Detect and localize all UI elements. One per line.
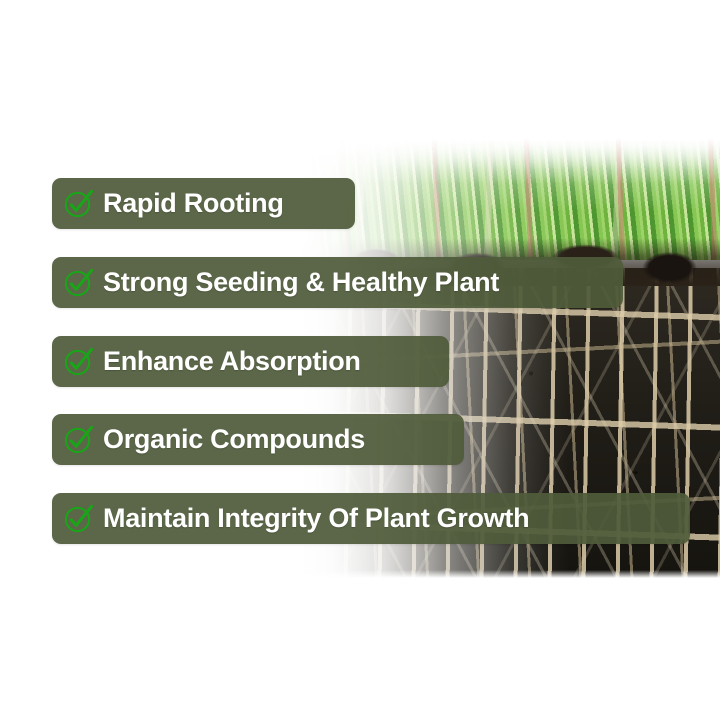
- check-circle-icon: [63, 267, 94, 298]
- feature-graphic: Rapid Rooting Strong Seeding & Healthy P…: [0, 0, 720, 720]
- benefit-label: Strong Seeding & Healthy Plant: [103, 269, 499, 296]
- benefit-item-maintain-integrity[interactable]: Maintain Integrity Of Plant Growth: [52, 493, 690, 544]
- benefit-list: Rapid Rooting Strong Seeding & Healthy P…: [0, 0, 720, 720]
- benefit-item-enhance-absorption[interactable]: Enhance Absorption: [52, 336, 449, 387]
- benefit-item-strong-seeding[interactable]: Strong Seeding & Healthy Plant: [52, 257, 623, 308]
- benefit-label: Organic Compounds: [103, 426, 365, 453]
- benefit-label: Enhance Absorption: [103, 348, 361, 375]
- check-circle-icon: [63, 188, 94, 219]
- benefit-item-organic-compounds[interactable]: Organic Compounds: [52, 414, 464, 465]
- benefit-label: Rapid Rooting: [103, 190, 284, 217]
- check-circle-icon: [63, 503, 94, 534]
- benefit-item-rapid-rooting[interactable]: Rapid Rooting: [52, 178, 355, 229]
- benefit-label: Maintain Integrity Of Plant Growth: [103, 505, 529, 532]
- check-circle-icon: [63, 346, 94, 377]
- check-circle-icon: [63, 424, 94, 455]
